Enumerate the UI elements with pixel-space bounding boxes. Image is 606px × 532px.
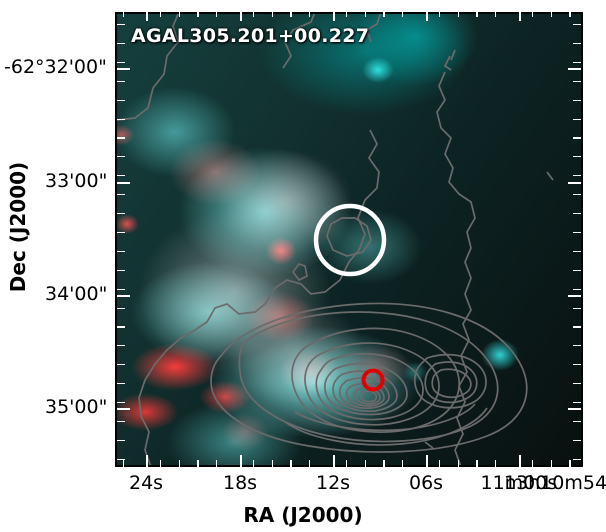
x-minor-tick	[290, 460, 291, 467]
y-minor-tick	[117, 156, 125, 157]
x-minor-tick-top	[495, 12, 496, 17]
x-tick-label: 06s	[409, 472, 443, 494]
y-tick-label: 34'00"	[45, 283, 107, 305]
y-minor-tick-right	[573, 156, 581, 157]
x-major-tick	[240, 455, 242, 467]
x-minor-tick-top	[216, 12, 217, 17]
y-minor-tick-right	[573, 251, 581, 252]
white-aperture-circle	[316, 206, 384, 274]
x-minor-tick-top	[402, 12, 403, 17]
y-minor-tick	[117, 194, 125, 195]
x-minor-tick	[309, 460, 310, 467]
y-minor-tick	[117, 326, 125, 327]
y-minor-tick-right	[573, 175, 581, 176]
y-tick-label: 35'00"	[45, 396, 107, 418]
x-minor-tick	[346, 460, 347, 467]
x-major-tick	[146, 455, 148, 467]
y-minor-tick-right	[573, 24, 581, 25]
x-minor-tick	[197, 460, 198, 467]
figure-title: AGAL305.201+00.227	[131, 25, 369, 47]
y-minor-tick	[117, 459, 125, 460]
y-minor-tick-right	[573, 383, 581, 384]
y-minor-tick-right	[573, 43, 581, 44]
y-minor-tick-right	[573, 440, 581, 441]
y-minor-tick	[117, 402, 125, 403]
contour-group	[117, 12, 553, 467]
y-minor-tick-right	[573, 364, 581, 365]
y-minor-tick	[117, 251, 125, 252]
y-major-tick	[117, 408, 130, 410]
x-minor-tick-top	[179, 12, 180, 17]
x-minor-tick-top	[439, 12, 440, 17]
y-minor-tick-right	[573, 308, 581, 309]
x-minor-tick-top	[532, 12, 533, 17]
y-major-tick	[117, 68, 130, 70]
y-minor-tick	[117, 421, 125, 422]
x-minor-tick-top	[551, 12, 552, 17]
y-axis-title: Dec (J2000)	[6, 127, 30, 327]
y-minor-tick	[117, 345, 125, 346]
x-minor-tick-top	[458, 12, 459, 17]
y-minor-tick-right	[573, 213, 581, 214]
x-minor-tick	[551, 460, 552, 467]
y-minor-tick-right	[573, 345, 581, 346]
x-tick-label: 13h10m54s	[504, 472, 606, 494]
x-minor-tick-top	[383, 12, 384, 17]
y-major-tick-right	[568, 182, 581, 184]
x-major-tick	[519, 455, 521, 467]
x-major-tick-top	[426, 12, 428, 21]
y-minor-tick	[117, 175, 125, 176]
x-minor-tick-top	[197, 12, 198, 17]
y-minor-tick	[117, 440, 125, 441]
x-minor-tick-top	[569, 12, 570, 17]
y-minor-tick	[117, 137, 125, 138]
y-minor-tick	[117, 119, 125, 120]
x-minor-tick	[383, 460, 384, 467]
y-minor-tick	[117, 289, 125, 290]
y-minor-tick-right	[573, 100, 581, 101]
y-minor-tick	[117, 100, 125, 101]
x-minor-tick	[439, 460, 440, 467]
y-minor-tick-right	[573, 81, 581, 82]
x-minor-tick-top	[160, 12, 161, 17]
y-minor-tick	[117, 24, 125, 25]
y-tick-label: 33'00"	[45, 170, 107, 192]
y-minor-tick	[117, 270, 125, 271]
y-minor-tick-right	[573, 137, 581, 138]
y-minor-tick	[117, 232, 125, 233]
y-major-tick	[117, 182, 130, 184]
y-major-tick-right	[568, 295, 581, 297]
x-minor-tick	[402, 460, 403, 467]
y-minor-tick-right	[573, 270, 581, 271]
y-minor-tick	[117, 81, 125, 82]
sky-image	[115, 12, 583, 467]
y-minor-tick	[117, 383, 125, 384]
x-minor-tick	[458, 460, 459, 467]
x-tick-label: 18s	[223, 472, 257, 494]
x-major-tick-top	[146, 12, 148, 21]
y-minor-tick-right	[573, 119, 581, 120]
y-tick-label: -62°32'00"	[4, 56, 107, 78]
y-minor-tick-right	[573, 194, 581, 195]
y-major-tick-right	[568, 68, 581, 70]
x-minor-tick-top	[290, 12, 291, 17]
figure-root: AGAL305.201+00.227 24s18s12s06s11m00s13h…	[0, 0, 606, 532]
x-major-tick-top	[240, 12, 242, 21]
x-minor-tick-top	[309, 12, 310, 17]
x-minor-tick	[476, 460, 477, 467]
x-minor-tick-top	[346, 12, 347, 17]
x-minor-tick	[253, 460, 254, 467]
y-minor-tick	[117, 213, 125, 214]
y-major-tick	[117, 295, 130, 297]
x-tick-label: 24s	[129, 472, 163, 494]
x-major-tick-top	[333, 12, 335, 21]
y-minor-tick-right	[573, 421, 581, 422]
x-major-tick-top	[519, 12, 521, 21]
x-minor-tick-top	[123, 12, 124, 17]
y-minor-tick	[117, 364, 125, 365]
x-major-tick	[426, 455, 428, 467]
x-minor-tick-top	[272, 12, 273, 17]
y-minor-tick-right	[573, 459, 581, 460]
x-tick-label: 12s	[316, 472, 350, 494]
x-minor-tick-top	[476, 12, 477, 17]
x-minor-tick	[179, 460, 180, 467]
y-major-tick-right	[568, 408, 581, 410]
x-minor-tick	[365, 460, 366, 467]
x-major-tick-top	[583, 12, 585, 21]
y-minor-tick	[117, 43, 125, 44]
x-minor-tick	[532, 460, 533, 467]
y-minor-tick	[117, 308, 125, 309]
y-minor-tick-right	[573, 62, 581, 63]
x-minor-tick	[495, 460, 496, 467]
x-minor-tick-top	[365, 12, 366, 17]
x-minor-tick	[272, 460, 273, 467]
x-minor-tick	[569, 460, 570, 467]
y-minor-tick-right	[573, 289, 581, 290]
y-minor-tick-right	[573, 326, 581, 327]
x-minor-tick-top	[253, 12, 254, 17]
x-major-tick	[583, 455, 585, 467]
y-minor-tick	[117, 62, 125, 63]
overlay-svg	[115, 12, 583, 467]
x-minor-tick	[160, 460, 161, 467]
y-minor-tick-right	[573, 402, 581, 403]
x-minor-tick	[216, 460, 217, 467]
x-major-tick	[333, 455, 335, 467]
x-minor-tick	[123, 460, 124, 467]
x-axis-title: RA (J2000)	[0, 503, 606, 527]
y-minor-tick-right	[573, 232, 581, 233]
